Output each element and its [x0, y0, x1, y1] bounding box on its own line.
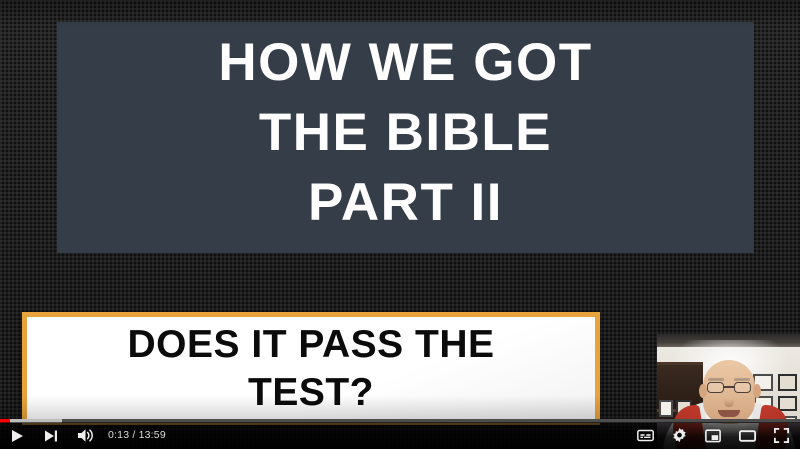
desk-photo-frame	[659, 400, 673, 417]
glasses-bridge	[724, 386, 734, 388]
presenter-ear-left	[699, 384, 707, 398]
theater-button[interactable]	[730, 422, 764, 449]
settings-button[interactable]	[662, 422, 696, 449]
presenter-nose	[724, 394, 734, 407]
glasses-lens-left	[707, 382, 724, 393]
player-controls-left: 0:13 / 13:59	[0, 422, 174, 449]
fullscreen-button[interactable]	[764, 422, 798, 449]
slide-title-line-1: HOW WE GOT	[218, 28, 592, 98]
subtitles-button[interactable]	[628, 422, 662, 449]
wall-picture-frame	[778, 374, 797, 391]
player-controls-right	[628, 422, 798, 449]
slide-subtitle-line-2: TEST?	[248, 369, 374, 417]
slide-title-line-3: PART II	[308, 168, 503, 238]
slide-subtitle-box: DOES IT PASS THE TEST?	[22, 312, 600, 425]
slide-title-panel: HOW WE GOT THE BIBLE PART II	[57, 22, 754, 253]
presenter-glasses	[707, 382, 751, 393]
slide-subtitle-line-1: DOES IT PASS THE	[128, 321, 495, 369]
presenter-eyebrow-left	[708, 378, 724, 381]
player-control-bar[interactable]: 0:13 / 13:59	[0, 422, 800, 449]
time-display: 0:13 / 13:59	[102, 422, 174, 449]
slide-title-line-2: THE BIBLE	[259, 98, 552, 168]
next-button[interactable]	[34, 422, 68, 449]
presenter-ear-right	[753, 384, 761, 398]
miniplayer-button[interactable]	[696, 422, 730, 449]
wall-picture-frame	[778, 396, 797, 411]
video-player[interactable]: HOW WE GOT THE BIBLE PART II DOES IT PAS…	[0, 0, 800, 449]
volume-button[interactable]	[68, 422, 102, 449]
play-button[interactable]	[0, 422, 34, 449]
glasses-lens-right	[734, 382, 751, 393]
presenter-mouth	[718, 410, 740, 417]
presenter-eyebrow-right	[734, 378, 750, 381]
